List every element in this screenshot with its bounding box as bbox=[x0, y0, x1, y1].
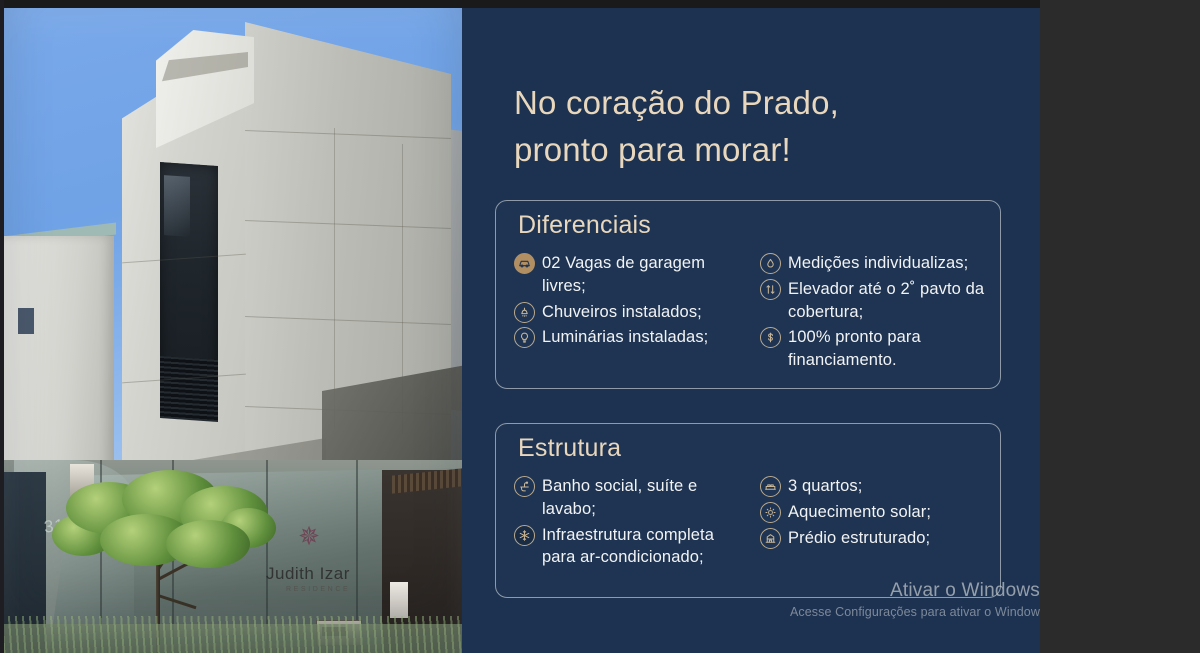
feature-item-label: Prédio estruturado; bbox=[788, 526, 930, 550]
elevator-arrows-icon bbox=[760, 279, 781, 300]
desktop-background bbox=[1040, 0, 1200, 653]
card-columns: 02 Vagas de garagem livres;Chuveiros ins… bbox=[514, 251, 990, 374]
feature-item-label: Elevador até o 2˚ pavto da cobertura; bbox=[788, 277, 990, 324]
snowflake-icon bbox=[514, 525, 535, 546]
tree-foliage bbox=[166, 520, 250, 568]
grass-blades bbox=[4, 616, 462, 653]
feature-item-label: Luminárias instaladas; bbox=[542, 325, 708, 349]
neighbor-window bbox=[18, 308, 34, 334]
slide-content: No coração do Prado, pronto para morar! … bbox=[462, 8, 1040, 653]
feature-item: 02 Vagas de garagem livres; bbox=[514, 251, 744, 298]
feature-item-label: 3 quartos; bbox=[788, 474, 862, 498]
feature-column-right: Medições individualizas;Elevador até o 2… bbox=[760, 251, 990, 374]
feature-item: Prédio estruturado; bbox=[760, 526, 990, 550]
window-louvers bbox=[160, 356, 218, 422]
feature-column-left: 02 Vagas de garagem livres;Chuveiros ins… bbox=[514, 251, 744, 374]
presentation-slide: 312 ✵ Judith Izar RESIDENCE bbox=[0, 0, 1040, 653]
card-columns: Banho social, suíte e lavabo;Infraestrut… bbox=[514, 474, 990, 571]
feature-item: 100% pronto para financiamento. bbox=[760, 325, 990, 372]
panel-seam-vertical bbox=[334, 128, 335, 428]
watermark-subtitle: Acesse Configurações para ativar o Windo… bbox=[750, 605, 1040, 619]
card-diferenciais: Diferenciais 02 Vagas de garagem livres;… bbox=[495, 200, 1001, 389]
bathroom-shower-icon bbox=[514, 476, 535, 497]
feature-item: Medições individualizas; bbox=[760, 251, 990, 275]
page-title: No coração do Prado, pronto para morar! bbox=[514, 80, 984, 174]
slide-left-border bbox=[0, 0, 4, 653]
building-structure-icon bbox=[760, 528, 781, 549]
building-photo: 312 ✵ Judith Izar RESIDENCE bbox=[4, 8, 462, 653]
feature-item: Aquecimento solar; bbox=[760, 500, 990, 524]
dollar-sign-icon bbox=[760, 327, 781, 348]
residence-subtitle-signage: RESIDENCE bbox=[286, 586, 350, 593]
car-icon bbox=[514, 253, 535, 274]
feature-column-right: 3 quartos;Aquecimento solar;Prédio estru… bbox=[760, 474, 990, 571]
headline-line-2: pronto para morar! bbox=[514, 127, 984, 174]
feature-item-label: Banho social, suíte e lavabo; bbox=[542, 474, 744, 521]
feature-item-label: Aquecimento solar; bbox=[788, 500, 931, 524]
residence-logo-icon: ✵ bbox=[296, 523, 322, 549]
sun-icon bbox=[760, 502, 781, 523]
wall-notice-plate bbox=[390, 582, 408, 618]
feature-item-label: 02 Vagas de garagem livres; bbox=[542, 251, 744, 298]
feature-item: Chuveiros instalados; bbox=[514, 300, 744, 324]
feature-item-label: Chuveiros instalados; bbox=[542, 300, 702, 324]
feature-item: 3 quartos; bbox=[760, 474, 990, 498]
headline-line-1: No coração do Prado, bbox=[514, 80, 984, 127]
water-drop-icon bbox=[760, 253, 781, 274]
card-title: Diferenciais bbox=[518, 211, 651, 240]
glass-reflection bbox=[164, 175, 190, 237]
feature-item-label: Medições individualizas; bbox=[788, 251, 968, 275]
feature-item: Infraestrutura completa para ar-condicio… bbox=[514, 523, 744, 570]
feature-item-label: 100% pronto para financiamento. bbox=[788, 325, 990, 372]
light-bulb-icon bbox=[514, 327, 535, 348]
feature-item: Banho social, suíte e lavabo; bbox=[514, 474, 744, 521]
card-title: Estrutura bbox=[518, 434, 621, 463]
bed-icon bbox=[760, 476, 781, 497]
feature-item-label: Infraestrutura completa para ar-condicio… bbox=[542, 523, 744, 570]
feature-item: Elevador até o 2˚ pavto da cobertura; bbox=[760, 277, 990, 324]
screen: 312 ✵ Judith Izar RESIDENCE bbox=[0, 0, 1200, 653]
feature-column-left: Banho social, suíte e lavabo;Infraestrut… bbox=[514, 474, 744, 571]
feature-item: Luminárias instaladas; bbox=[514, 325, 744, 349]
residence-name-signage: Judith Izar bbox=[266, 564, 350, 584]
shower-icon bbox=[514, 302, 535, 323]
slide-top-border bbox=[0, 0, 1040, 8]
card-estrutura: Estrutura Banho social, suíte e lavabo;I… bbox=[495, 423, 1001, 598]
